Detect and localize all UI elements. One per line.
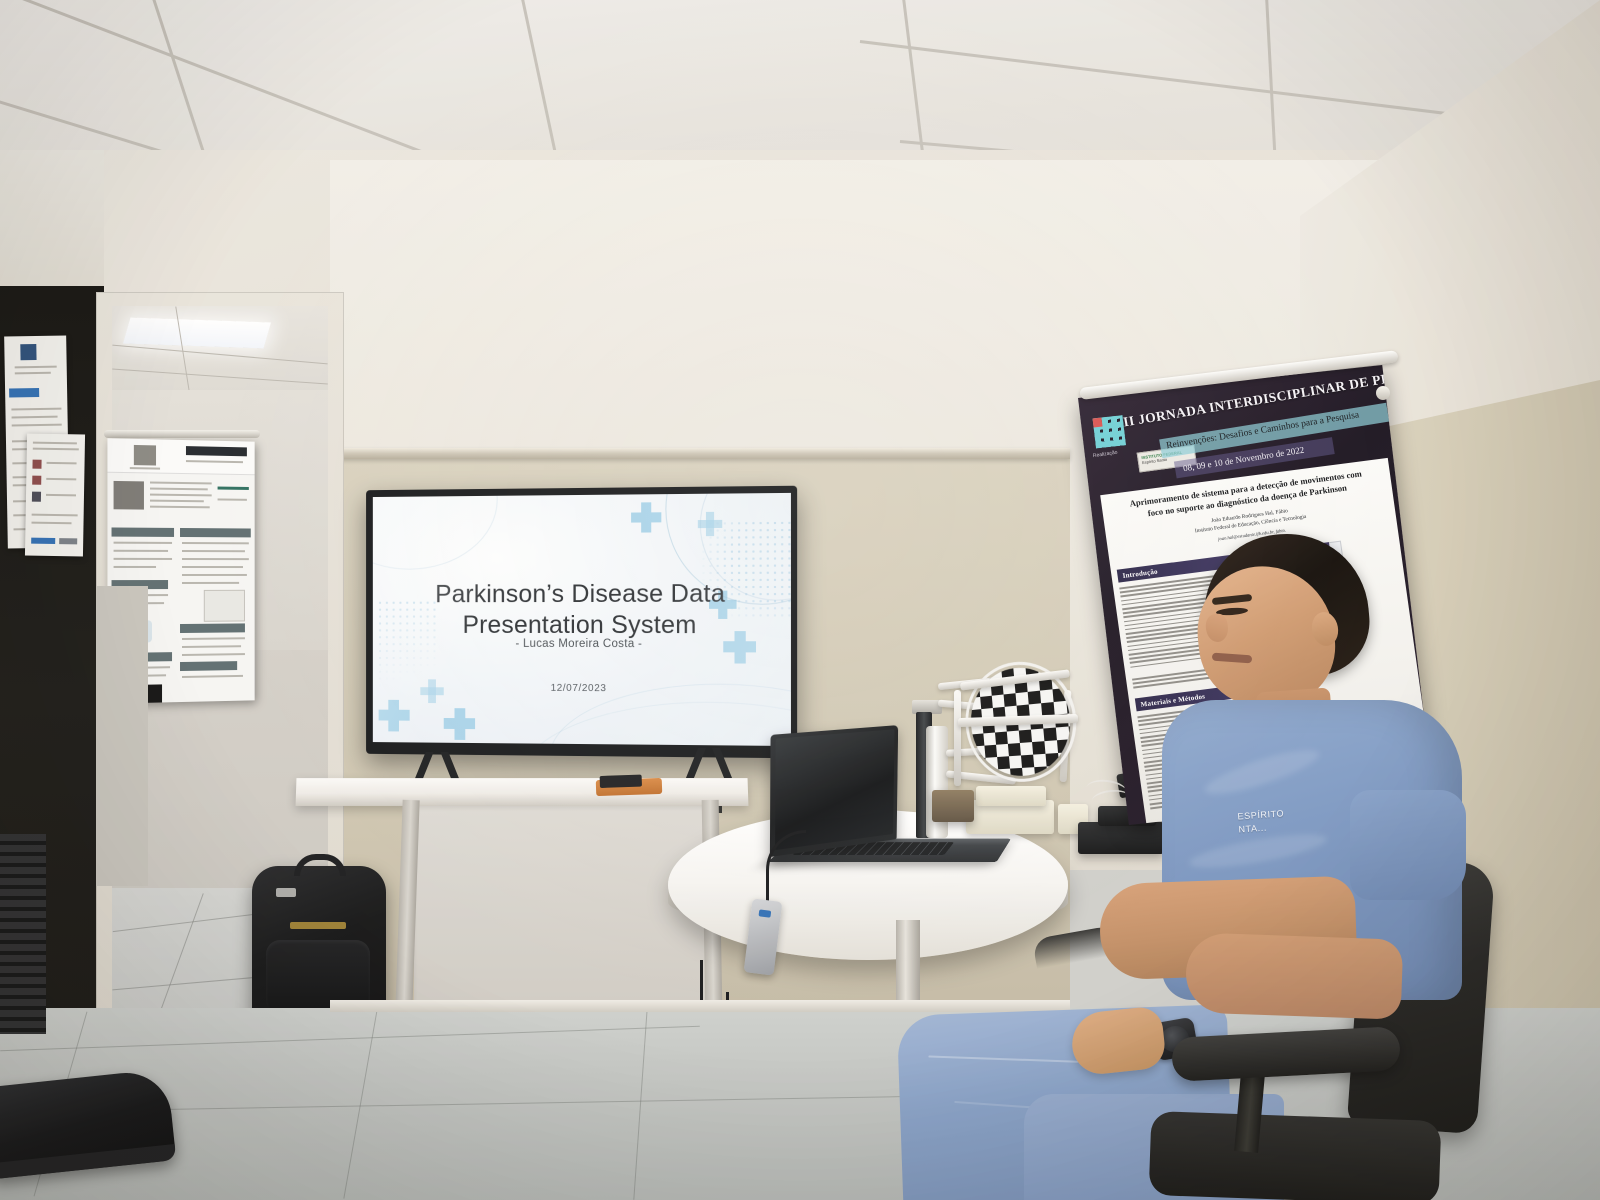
- medical-cross-icon: [444, 718, 475, 729]
- banner-logo-label: Realização: [1093, 450, 1118, 459]
- baseboard: [330, 1000, 1070, 1012]
- slide-author: - Lucas Moreira Costa -: [373, 638, 791, 651]
- wall-left-upper: [0, 150, 104, 290]
- rig-arm-vertical: [954, 690, 961, 786]
- slide-date: 12/07/2023: [373, 682, 791, 695]
- slide-title: Parkinson’s Disease Data Presentation Sy…: [373, 578, 791, 640]
- banner-rail-cap: [1376, 386, 1390, 400]
- logo-red-square: [1093, 418, 1103, 428]
- medical-cross-icon: [631, 512, 661, 522]
- television: Parkinson’s Disease Data Presentation Sy…: [366, 486, 797, 759]
- wall-rail-back: [330, 448, 1070, 459]
- tshirt-line1: ESPÍRITO: [1237, 808, 1284, 821]
- tv-screen: Parkinson’s Disease Data Presentation Sy…: [373, 493, 791, 746]
- backpack-logo: [276, 888, 296, 897]
- medical-cross-icon: [379, 710, 410, 721]
- tv-remote-on-pouch: [596, 778, 663, 796]
- notice-sheet-2: [25, 434, 85, 557]
- person-forearm-second: [1185, 932, 1404, 1019]
- hallway-poster-secondary: [96, 586, 148, 886]
- dongle-port: [758, 909, 771, 917]
- decorative-arc: [519, 701, 791, 746]
- person-sleeve: [1350, 790, 1466, 900]
- room-photo-scene: Parkinson’s Disease Data Presentation Sy…: [0, 0, 1600, 1200]
- remote-device: [600, 775, 642, 788]
- decorative-arc: [373, 493, 498, 570]
- desk-modesty-panel: [414, 806, 710, 1002]
- office-chair-seat[interactable]: [1149, 1111, 1442, 1200]
- slide-title-line2: Presentation System: [463, 610, 697, 638]
- board-bracket: [932, 790, 974, 822]
- hallway-ceiling: [112, 306, 328, 392]
- tv-bezel: Parkinson’s Disease Data Presentation Sy…: [366, 486, 797, 759]
- tshirt-print-text: ESPÍRITO NTA...: [1237, 806, 1311, 837]
- tshirt-line2: NTA...: [1238, 823, 1267, 835]
- tv-stand-desktop: [296, 778, 749, 806]
- electronics-enclosure: [1078, 822, 1164, 854]
- poster-roller-bar: [104, 430, 260, 438]
- fluorescent-light-icon: [123, 318, 271, 349]
- event-logo-icon: [1093, 415, 1126, 448]
- foam-3d-printed-block: [976, 786, 1046, 806]
- backpack-brand-tag: [290, 922, 346, 929]
- slide-title-line1: Parkinson’s Disease Data: [435, 580, 725, 609]
